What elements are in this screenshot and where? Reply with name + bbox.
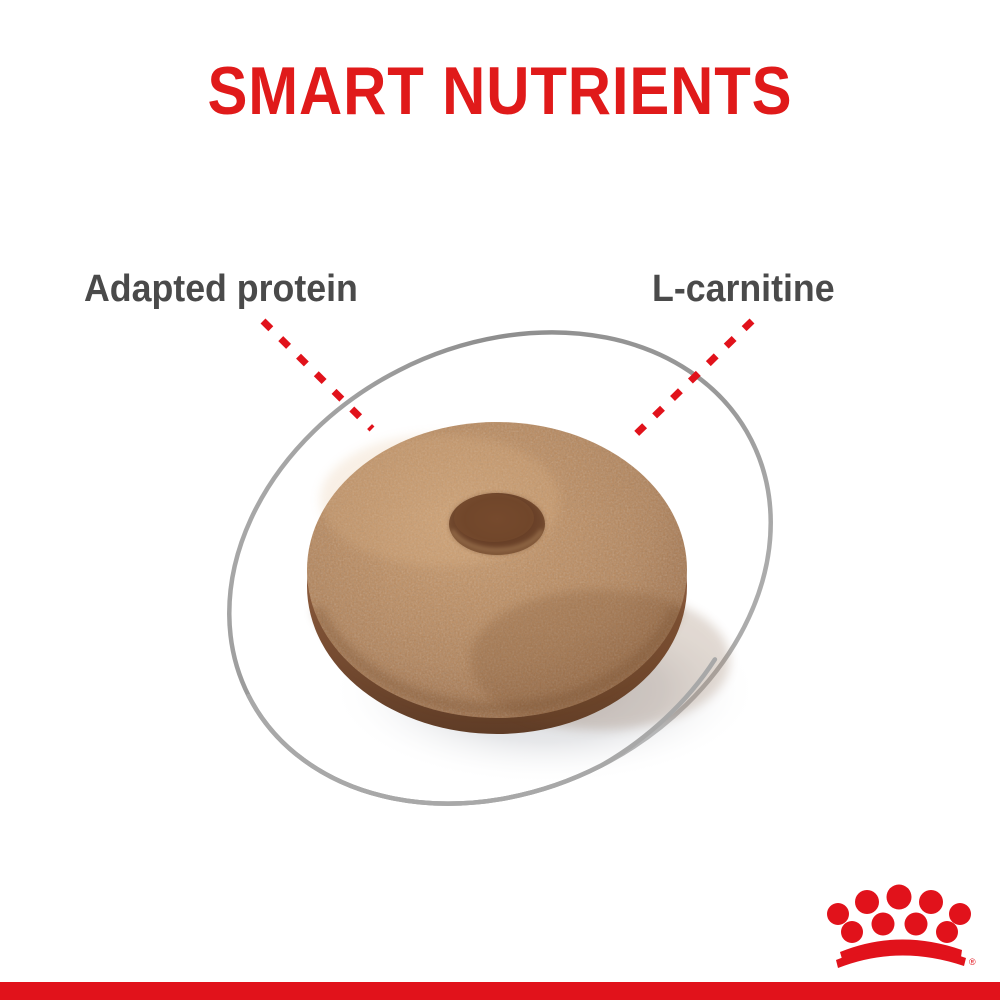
footer-red-bar [0,982,1000,1000]
product-illustration [0,0,1000,1000]
callout-label-l-carnitine: L-carnitine [652,268,835,310]
leader-line-adapted-protein [263,321,372,429]
royal-canin-logo: ® [826,876,976,968]
leader-line-l-carnitine [633,321,752,437]
crown-icon [827,885,971,969]
callout-label-adapted-protein: Adapted protein [84,268,358,310]
kibble-center-dimple [449,493,545,555]
smart-nutrients-panel: SMART NUTRIENTS [0,0,1000,1000]
registered-mark: ® [969,957,976,967]
